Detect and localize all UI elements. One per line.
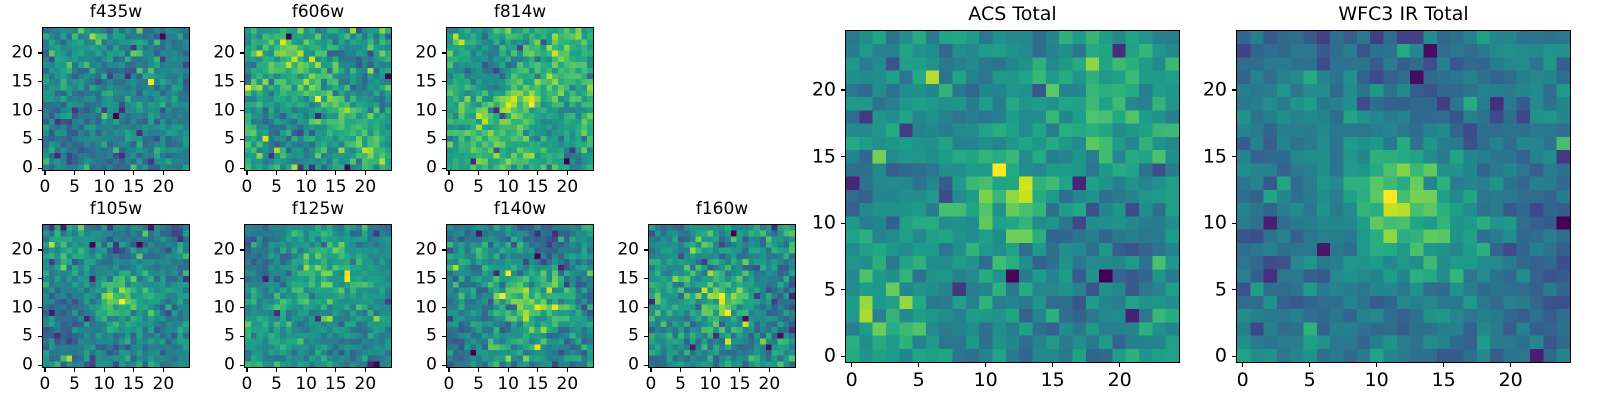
y-tick-label-f435w-20: 20 xyxy=(11,44,33,61)
y-tick-f140w-10 xyxy=(442,307,446,308)
y-tick-f125w-20 xyxy=(240,249,244,250)
heatmap-canvas-f606w xyxy=(245,28,391,170)
y-tick-label-f435w-5: 5 xyxy=(22,131,33,148)
x-tick-f105w-0 xyxy=(44,368,45,372)
panel-f125w: f125w0510152005101520 xyxy=(244,201,392,402)
y-tick-label-wfc3-ir-total-0: 0 xyxy=(1215,347,1227,366)
y-tick-f814w-0 xyxy=(442,168,446,169)
y-tick-f105w-10 xyxy=(38,307,42,308)
x-tick-label-f814w-15: 15 xyxy=(527,179,549,196)
x-tick-label-f125w-0: 0 xyxy=(242,376,253,393)
y-tick-label-f160w-20: 20 xyxy=(617,241,639,258)
x-tick-label-f105w-0: 0 xyxy=(40,376,51,393)
y-tick-label-f606w-5: 5 xyxy=(224,131,235,148)
x-tick-f606w-10 xyxy=(306,171,307,175)
y-tick-label-f606w-10: 10 xyxy=(213,102,235,119)
x-tick-label-f125w-20: 20 xyxy=(355,376,377,393)
y-tick-label-f814w-15: 15 xyxy=(415,73,437,90)
x-tick-f125w-0 xyxy=(246,368,247,372)
x-tick-label-wfc3-ir-total-0: 0 xyxy=(1237,371,1249,390)
heatmap-canvas-acs-total xyxy=(846,31,1179,362)
y-tick-f435w-5 xyxy=(38,139,42,140)
x-tick-acs-total-20 xyxy=(1119,363,1120,367)
y-tick-f160w-5 xyxy=(644,336,648,337)
x-tick-f160w-15 xyxy=(739,368,740,372)
panel-title-f160w: f160w xyxy=(648,201,796,218)
y-tick-f435w-15 xyxy=(38,81,42,82)
x-tick-f435w-15 xyxy=(133,171,134,175)
x-tick-label-f160w-10: 10 xyxy=(699,376,721,393)
heatmap-image-f105w xyxy=(42,224,190,368)
y-tick-acs-total-0 xyxy=(841,356,845,357)
y-tick-f140w-15 xyxy=(442,278,446,279)
y-tick-label-acs-total-15: 15 xyxy=(812,147,836,166)
y-tick-f435w-10 xyxy=(38,110,42,111)
x-tick-wfc3-ir-total-5 xyxy=(1309,363,1310,367)
y-tick-wfc3-ir-total-15 xyxy=(1232,156,1236,157)
x-tick-label-wfc3-ir-total-20: 20 xyxy=(1499,371,1523,390)
y-tick-label-f435w-15: 15 xyxy=(11,73,33,90)
x-tick-label-f606w-15: 15 xyxy=(325,179,347,196)
panel-title-f125w: f125w xyxy=(244,201,392,218)
x-tick-label-f160w-5: 5 xyxy=(675,376,686,393)
x-tick-f814w-0 xyxy=(448,171,449,175)
x-tick-f105w-10 xyxy=(104,368,105,372)
y-tick-f814w-20 xyxy=(442,52,446,53)
panel-f105w: f105w0510152005101520 xyxy=(42,201,190,402)
heatmap-image-f814w xyxy=(446,27,594,171)
x-tick-f140w-15 xyxy=(537,368,538,372)
y-tick-f160w-10 xyxy=(644,307,648,308)
x-tick-f160w-20 xyxy=(769,368,770,372)
x-tick-label-f125w-5: 5 xyxy=(271,376,282,393)
x-tick-label-f105w-15: 15 xyxy=(123,376,145,393)
heatmap-image-f140w xyxy=(446,224,594,368)
panel-title-f140w: f140w xyxy=(446,201,594,218)
x-tick-label-wfc3-ir-total-10: 10 xyxy=(1365,371,1389,390)
x-tick-wfc3-ir-total-0 xyxy=(1242,363,1243,367)
y-tick-label-f140w-20: 20 xyxy=(415,241,437,258)
x-tick-label-f105w-20: 20 xyxy=(153,376,175,393)
y-tick-f105w-20 xyxy=(38,249,42,250)
y-tick-label-f105w-5: 5 xyxy=(22,328,33,345)
x-tick-f435w-20 xyxy=(163,171,164,175)
y-tick-label-wfc3-ir-total-20: 20 xyxy=(1203,80,1227,99)
panel-f160w: f160w0510152005101520 xyxy=(648,201,796,402)
y-tick-label-acs-total-0: 0 xyxy=(824,347,836,366)
y-tick-wfc3-ir-total-5 xyxy=(1232,289,1236,290)
x-tick-f814w-20 xyxy=(567,171,568,175)
panel-title-f606w: f606w xyxy=(244,4,392,21)
y-tick-label-acs-total-20: 20 xyxy=(812,80,836,99)
y-tick-f435w-0 xyxy=(38,168,42,169)
x-tick-label-acs-total-5: 5 xyxy=(913,371,925,390)
panel-title-wfc3-ir-total: WFC3 IR Total xyxy=(1236,5,1571,24)
x-tick-label-acs-total-0: 0 xyxy=(846,371,858,390)
x-tick-label-f814w-10: 10 xyxy=(497,179,519,196)
y-tick-acs-total-15 xyxy=(841,156,845,157)
x-tick-f160w-5 xyxy=(680,368,681,372)
y-tick-f105w-5 xyxy=(38,336,42,337)
x-tick-acs-total-15 xyxy=(1052,363,1053,367)
x-tick-f606w-0 xyxy=(246,171,247,175)
y-tick-f140w-5 xyxy=(442,336,446,337)
y-tick-f105w-15 xyxy=(38,278,42,279)
y-tick-label-f435w-0: 0 xyxy=(22,160,33,177)
x-tick-label-f435w-15: 15 xyxy=(123,179,145,196)
y-tick-label-f140w-0: 0 xyxy=(426,357,437,374)
y-tick-label-f125w-0: 0 xyxy=(224,357,235,374)
x-tick-label-f435w-10: 10 xyxy=(93,179,115,196)
y-tick-label-f160w-15: 15 xyxy=(617,270,639,287)
y-tick-f606w-0 xyxy=(240,168,244,169)
x-tick-label-wfc3-ir-total-5: 5 xyxy=(1304,371,1316,390)
y-tick-acs-total-10 xyxy=(841,223,845,224)
y-tick-label-f814w-5: 5 xyxy=(426,131,437,148)
y-tick-label-f140w-5: 5 xyxy=(426,328,437,345)
panel-f140w: f140w0510152005101520 xyxy=(446,201,594,402)
x-tick-label-acs-total-10: 10 xyxy=(974,371,998,390)
y-tick-label-acs-total-10: 10 xyxy=(812,214,836,233)
y-tick-label-f125w-15: 15 xyxy=(213,270,235,287)
heatmap-image-f160w xyxy=(648,224,796,368)
panel-title-f105w: f105w xyxy=(42,201,190,218)
x-tick-f125w-15 xyxy=(335,368,336,372)
panel-f435w: f435w0510152005101520 xyxy=(42,4,190,205)
y-tick-f606w-5 xyxy=(240,139,244,140)
y-tick-f606w-10 xyxy=(240,110,244,111)
x-tick-label-f606w-20: 20 xyxy=(355,179,377,196)
x-tick-label-f814w-0: 0 xyxy=(444,179,455,196)
figure-canvas: f435w0510152005101520f606w05101520051015… xyxy=(0,0,1600,400)
x-tick-acs-total-10 xyxy=(985,363,986,367)
x-tick-f160w-0 xyxy=(650,368,651,372)
x-tick-label-f814w-20: 20 xyxy=(557,179,579,196)
x-tick-f435w-0 xyxy=(44,171,45,175)
y-tick-acs-total-20 xyxy=(841,89,845,90)
x-tick-label-f606w-5: 5 xyxy=(271,179,282,196)
x-tick-f435w-10 xyxy=(104,171,105,175)
y-tick-acs-total-5 xyxy=(841,289,845,290)
y-tick-f125w-10 xyxy=(240,307,244,308)
heatmap-image-f606w xyxy=(244,27,392,171)
y-tick-label-f814w-0: 0 xyxy=(426,160,437,177)
y-tick-label-f105w-20: 20 xyxy=(11,241,33,258)
x-tick-f105w-20 xyxy=(163,368,164,372)
x-tick-wfc3-ir-total-15 xyxy=(1443,363,1444,367)
x-tick-label-f140w-0: 0 xyxy=(444,376,455,393)
x-tick-label-f814w-5: 5 xyxy=(473,179,484,196)
panel-acs-total: ACS Total0510152005101520 xyxy=(845,5,1180,397)
heatmap-canvas-f105w xyxy=(43,225,189,367)
x-tick-label-f140w-10: 10 xyxy=(497,376,519,393)
heatmap-image-f125w xyxy=(244,224,392,368)
y-tick-wfc3-ir-total-10 xyxy=(1232,223,1236,224)
x-tick-f140w-20 xyxy=(567,368,568,372)
x-tick-f606w-15 xyxy=(335,171,336,175)
y-tick-label-wfc3-ir-total-5: 5 xyxy=(1215,280,1227,299)
x-tick-label-f105w-5: 5 xyxy=(69,376,80,393)
x-tick-label-acs-total-15: 15 xyxy=(1041,371,1065,390)
y-tick-label-f125w-10: 10 xyxy=(213,299,235,316)
heatmap-canvas-f160w xyxy=(649,225,795,367)
x-tick-f606w-5 xyxy=(276,171,277,175)
y-tick-label-f125w-20: 20 xyxy=(213,241,235,258)
x-tick-label-f125w-15: 15 xyxy=(325,376,347,393)
y-tick-label-acs-total-5: 5 xyxy=(824,280,836,299)
x-tick-f125w-20 xyxy=(365,368,366,372)
x-tick-label-acs-total-20: 20 xyxy=(1108,371,1132,390)
y-tick-label-f105w-15: 15 xyxy=(11,270,33,287)
heatmap-canvas-f814w xyxy=(447,28,593,170)
y-tick-label-f814w-10: 10 xyxy=(415,102,437,119)
y-tick-f125w-5 xyxy=(240,336,244,337)
x-tick-label-f435w-5: 5 xyxy=(69,179,80,196)
y-tick-f606w-15 xyxy=(240,81,244,82)
x-tick-f140w-5 xyxy=(478,368,479,372)
x-tick-wfc3-ir-total-10 xyxy=(1376,363,1377,367)
y-tick-f814w-5 xyxy=(442,139,446,140)
panel-title-f814w: f814w xyxy=(446,4,594,21)
y-tick-wfc3-ir-total-0 xyxy=(1232,356,1236,357)
y-tick-label-f140w-10: 10 xyxy=(415,299,437,316)
panel-f814w: f814w0510152005101520 xyxy=(446,4,594,205)
x-tick-label-wfc3-ir-total-15: 15 xyxy=(1432,371,1456,390)
x-tick-f105w-5 xyxy=(74,368,75,372)
y-tick-f140w-0 xyxy=(442,365,446,366)
y-tick-f606w-20 xyxy=(240,52,244,53)
x-tick-f606w-20 xyxy=(365,171,366,175)
y-tick-label-f125w-5: 5 xyxy=(224,328,235,345)
y-tick-label-f140w-15: 15 xyxy=(415,270,437,287)
y-tick-f125w-0 xyxy=(240,365,244,366)
y-tick-f435w-20 xyxy=(38,52,42,53)
x-tick-label-f435w-20: 20 xyxy=(153,179,175,196)
panel-f606w: f606w0510152005101520 xyxy=(244,4,392,205)
panel-title-acs-total: ACS Total xyxy=(845,5,1180,24)
x-tick-label-f160w-0: 0 xyxy=(646,376,657,393)
x-tick-f140w-10 xyxy=(508,368,509,372)
x-tick-f125w-10 xyxy=(306,368,307,372)
panel-title-f435w: f435w xyxy=(42,4,190,21)
y-tick-label-f105w-10: 10 xyxy=(11,299,33,316)
y-tick-f160w-15 xyxy=(644,278,648,279)
y-tick-label-f435w-10: 10 xyxy=(11,102,33,119)
x-tick-label-f160w-20: 20 xyxy=(759,376,781,393)
heatmap-canvas-f140w xyxy=(447,225,593,367)
x-tick-f814w-10 xyxy=(508,171,509,175)
heatmap-canvas-wfc3-ir-total xyxy=(1237,31,1570,362)
y-tick-label-f606w-15: 15 xyxy=(213,73,235,90)
y-tick-label-f160w-0: 0 xyxy=(628,357,639,374)
x-tick-f160w-10 xyxy=(710,368,711,372)
x-tick-f125w-5 xyxy=(276,368,277,372)
x-tick-acs-total-5 xyxy=(918,363,919,367)
y-tick-label-f814w-20: 20 xyxy=(415,44,437,61)
y-tick-f140w-20 xyxy=(442,249,446,250)
x-tick-label-f606w-0: 0 xyxy=(242,179,253,196)
x-tick-label-f105w-10: 10 xyxy=(93,376,115,393)
x-tick-label-f125w-10: 10 xyxy=(295,376,317,393)
y-tick-f105w-0 xyxy=(38,365,42,366)
x-tick-f814w-5 xyxy=(478,171,479,175)
x-tick-f814w-15 xyxy=(537,171,538,175)
x-tick-label-f140w-20: 20 xyxy=(557,376,579,393)
x-tick-acs-total-0 xyxy=(851,363,852,367)
heatmap-image-wfc3-ir-total xyxy=(1236,30,1571,363)
x-tick-f435w-5 xyxy=(74,171,75,175)
y-tick-wfc3-ir-total-20 xyxy=(1232,89,1236,90)
y-tick-f160w-0 xyxy=(644,365,648,366)
y-tick-label-f606w-20: 20 xyxy=(213,44,235,61)
y-tick-f125w-15 xyxy=(240,278,244,279)
y-tick-label-wfc3-ir-total-15: 15 xyxy=(1203,147,1227,166)
heatmap-image-acs-total xyxy=(845,30,1180,363)
y-tick-label-f160w-5: 5 xyxy=(628,328,639,345)
heatmap-canvas-f435w xyxy=(43,28,189,170)
heatmap-canvas-f125w xyxy=(245,225,391,367)
y-tick-label-f105w-0: 0 xyxy=(22,357,33,374)
y-tick-f814w-15 xyxy=(442,81,446,82)
y-tick-f160w-20 xyxy=(644,249,648,250)
y-tick-label-f606w-0: 0 xyxy=(224,160,235,177)
x-tick-wfc3-ir-total-20 xyxy=(1510,363,1511,367)
panel-wfc3-ir-total: WFC3 IR Total0510152005101520 xyxy=(1236,5,1571,397)
y-tick-label-f160w-10: 10 xyxy=(617,299,639,316)
x-tick-label-f606w-10: 10 xyxy=(295,179,317,196)
x-tick-label-f140w-15: 15 xyxy=(527,376,549,393)
y-tick-f814w-10 xyxy=(442,110,446,111)
x-tick-f140w-0 xyxy=(448,368,449,372)
x-tick-f105w-15 xyxy=(133,368,134,372)
y-tick-label-wfc3-ir-total-10: 10 xyxy=(1203,214,1227,233)
heatmap-image-f435w xyxy=(42,27,190,171)
x-tick-label-f140w-5: 5 xyxy=(473,376,484,393)
x-tick-label-f160w-15: 15 xyxy=(729,376,751,393)
x-tick-label-f435w-0: 0 xyxy=(40,179,51,196)
